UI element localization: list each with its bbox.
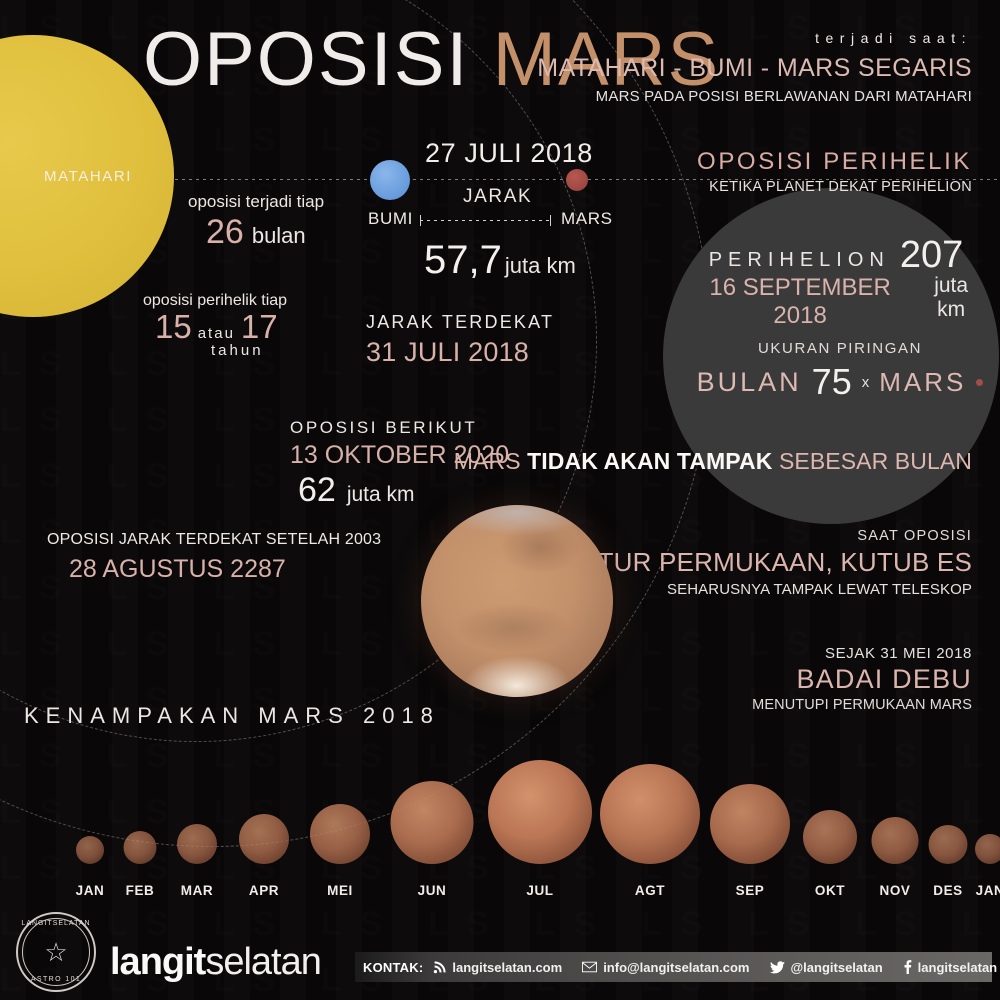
month-label-okt-9: OKT	[815, 883, 845, 898]
mars-disk-mei-4	[310, 804, 370, 864]
mars-dot	[566, 169, 588, 191]
surface-caption: SAAT OPOSISI	[574, 528, 972, 544]
contact-bar: KONTAK: langitselatan.cominfo@langitsela…	[355, 952, 992, 982]
brand-wordmark: langitselatan	[110, 941, 321, 984]
mars-disk-jan-12	[975, 834, 1000, 864]
next-opposition-distance: 62	[298, 471, 336, 510]
mars-disk-apr-3	[239, 814, 289, 864]
notmoon-tail: SEBESAR BULAN	[779, 448, 972, 474]
footer: LANGITSELATAN ☆ ASTRO 101 langitselatan …	[0, 928, 1000, 1000]
month-label-agt-7: AGT	[635, 883, 665, 898]
contact-text: @langitselatan	[791, 960, 883, 975]
contact-facebook[interactable]: langitselatan	[903, 960, 997, 975]
earth-label: BUMI	[368, 209, 413, 229]
notmoon-bold: TIDAK AKAN TAMPAK	[527, 448, 772, 474]
dust-heading: BADAI DEBU	[752, 664, 972, 695]
distance-unit: juta km	[505, 253, 576, 279]
moon-word: BULAN	[697, 367, 802, 398]
distance-number: 57,7	[424, 238, 502, 283]
contact-items: langitselatan.cominfo@langitselatan.com@…	[433, 960, 1000, 975]
dust-subtext: MENUTUPI PERMUKAAN MARS	[752, 697, 972, 713]
month-label-des-11: DES	[933, 883, 963, 898]
month-label-mar-2: MAR	[181, 883, 214, 898]
contact-text: langitselatan	[918, 960, 997, 975]
surface-subtext: SEHARUSNYA TAMPAK LEWAT TELESKOP	[574, 581, 972, 598]
month-label-apr-3: APR	[249, 883, 279, 898]
mars-disk-agt-7	[600, 764, 700, 864]
next-opposition-block: OPOSISI BERIKUT 13 OKTOBER 2020 62 juta …	[290, 418, 509, 510]
month-label-jul-6: JUL	[526, 883, 553, 898]
appearance-section-title: KENAMPAKAN MARS 2018	[24, 703, 440, 729]
perihelic-conjunction: atau	[198, 325, 235, 342]
mars-disk-okt-9	[803, 810, 857, 864]
header-right-block: terjadi saat: MATAHARI - BUMI - MARS SEG…	[537, 30, 972, 105]
brand-part-langit: langit	[110, 941, 205, 983]
opposition-period-block: oposisi terjadi tiap 26 bulan	[188, 192, 324, 252]
opposition-date: 27 JULI 2018	[425, 138, 593, 169]
mars-disk-jun-5	[391, 781, 474, 864]
perihelion-unit: juta km	[920, 274, 982, 322]
sun-label: MATAHARI	[44, 168, 132, 185]
email-icon	[582, 961, 597, 973]
period-value: 26	[206, 213, 244, 252]
month-label-feb-1: FEB	[126, 883, 155, 898]
perihelion-stats: PERIHELION 207 16 SEPTEMBER 2018 juta km	[690, 238, 982, 330]
mars-disk-sep-8	[710, 784, 790, 864]
mars-photograph	[421, 505, 613, 697]
perihelion-word: PERIHELION	[709, 249, 890, 272]
next-opposition-unit: juta km	[347, 483, 415, 507]
disk-size-caption: UKURAN PIRINGAN	[690, 340, 990, 357]
after-2003-caption: OPOSISI JARAK TERDEKAT SETELAH 2003	[47, 531, 381, 549]
header-kicker: terjadi saat:	[537, 30, 972, 46]
times-symbol: x	[862, 374, 870, 391]
next-opposition-date: 13 OKTOBER 2020	[290, 441, 509, 470]
perihelic-heading: OPOSISI PERIHELIK	[697, 148, 972, 176]
closest-after-2003-block: OPOSISI JARAK TERDEKAT SETELAH 2003 28 A…	[47, 531, 381, 584]
disk-size-comparison: UKURAN PIRINGAN BULAN 75 x MARS	[690, 340, 990, 403]
logo-bottom-text: ASTRO 101	[18, 976, 94, 983]
month-label-jan-0: JAN	[76, 883, 105, 898]
distance-arrow	[420, 215, 551, 226]
mars-disk-nov-10	[872, 817, 919, 864]
mars-size-dot	[976, 379, 983, 386]
dust-caption: SEJAK 31 MEI 2018	[752, 645, 972, 662]
period-caption: oposisi terjadi tiap	[188, 192, 324, 212]
distance-label: JARAK	[463, 186, 532, 208]
closest-approach-block: JARAK TERDEKAT 31 JULI 2018	[366, 312, 554, 368]
rss-icon	[433, 961, 446, 974]
month-label-jan-12: JAN	[976, 883, 1000, 898]
header-alignment-line: MATAHARI - BUMI - MARS SEGARIS	[537, 54, 972, 83]
perihelion-date: 16 SEPTEMBER 2018	[690, 274, 910, 330]
month-label-mei-4: MEI	[327, 883, 353, 898]
langitselatan-logo: LANGITSELATAN ☆ ASTRO 101	[16, 912, 96, 992]
mars-disk-feb-1	[124, 831, 157, 864]
infographic-poster: LS LS LS LS LS LS LS LS LS LS LS LS LS L…	[0, 0, 1000, 1000]
month-label-sep-8: SEP	[736, 883, 765, 898]
mars-word: MARS	[879, 367, 966, 398]
perihelic-value-2: 17	[241, 308, 278, 346]
month-label-jun-5: JUN	[418, 883, 447, 898]
contact-text: info@langitselatan.com	[603, 960, 749, 975]
mars-disk-jan-0	[76, 836, 104, 864]
mars-disk-jul-6	[488, 760, 592, 864]
perihelic-value-1: 15	[155, 308, 192, 346]
size-factor: 75	[812, 361, 852, 403]
closest-date: 31 JULI 2018	[366, 337, 554, 368]
not-as-big-as-moon-statement: MARS TIDAK AKAN TAMPAK SEBESAR BULAN	[454, 448, 972, 475]
surface-heading: FITUR PERMUKAAN, KUTUB ES	[574, 547, 972, 578]
facebook-icon	[903, 960, 912, 974]
next-opposition-caption: OPOSISI BERIKUT	[290, 418, 509, 438]
perihelic-period-block: oposisi perihelik tiap 15 atau 17 tahun	[143, 292, 287, 359]
arrow-cap-right	[550, 215, 551, 226]
perihelion-distance: 207	[900, 238, 963, 272]
perihelic-subtext: KETIKA PLANET DEKAT PERIHELION	[697, 179, 972, 195]
twitter-icon	[770, 961, 785, 974]
contact-email[interactable]: info@langitselatan.com	[582, 960, 749, 975]
dust-storm-block: SEJAK 31 MEI 2018 BADAI DEBU MENUTUPI PE…	[752, 645, 972, 713]
perihelic-opposition-header: OPOSISI PERIHELIK KETIKA PLANET DEKAT PE…	[697, 148, 972, 195]
mars-disk-mar-2	[177, 824, 217, 864]
header-subtext: MARS PADA POSISI BERLAWANAN DARI MATAHAR…	[537, 88, 972, 105]
kontak-label: KONTAK:	[363, 960, 423, 975]
month-label-nov-10: NOV	[879, 883, 910, 898]
arrow-bar	[420, 220, 551, 221]
surface-features-block: SAAT OPOSISI FITUR PERMUKAAN, KUTUB ES S…	[574, 528, 972, 598]
after-2003-date: 28 AGUSTUS 2287	[47, 555, 381, 584]
period-unit: bulan	[252, 223, 306, 249]
mars-disk-des-11	[929, 825, 968, 864]
brand-part-selatan: selatan	[205, 941, 321, 983]
logo-top-text: LANGITSELATAN	[18, 920, 94, 927]
closest-caption: JARAK TERDEKAT	[366, 312, 554, 333]
title-part-oposisi: OPOSISI	[143, 17, 470, 102]
contact-text: langitselatan.com	[452, 960, 562, 975]
mars-label: MARS	[561, 209, 613, 229]
contact-rss[interactable]: langitselatan.com	[433, 960, 562, 975]
earth-dot	[370, 160, 410, 200]
contact-twitter[interactable]: @langitselatan	[770, 960, 883, 975]
mars-size-chart: JANFEBMARAPRMEIJUNJULAGTSEPOKTNOVDESJAN	[40, 760, 970, 900]
distance-value-block: 57,7 juta km	[424, 238, 576, 283]
